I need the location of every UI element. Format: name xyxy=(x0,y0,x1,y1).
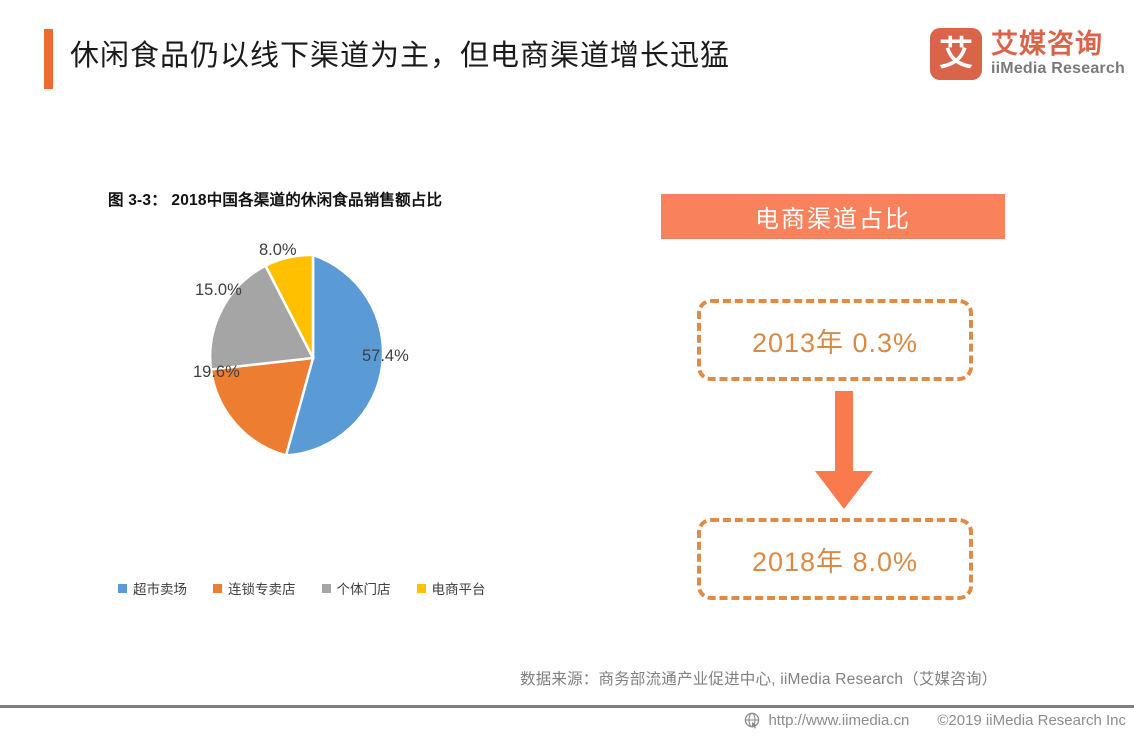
page-header: 休闲食品仍以线下渠道为主，但电商渠道增长迅猛 艾 艾媒咨询 iiMedia Re… xyxy=(0,0,1134,110)
legend-item-2[interactable]: 个体门店 xyxy=(322,578,391,598)
logo-text: 艾媒咨询 iiMedia Research xyxy=(991,29,1125,79)
pie-value-label-3: 8.0% xyxy=(259,241,297,260)
legend-swatch-icon-3 xyxy=(417,584,426,593)
pie-value-label-1: 19.6% xyxy=(193,363,240,382)
logo-mark-icon: 艾 xyxy=(930,28,982,80)
pie-chart: 57.4% 19.6% 15.0% 8.0% xyxy=(210,255,416,461)
panel-banner: 电商渠道占比 xyxy=(661,194,1005,239)
data-source-note: 数据来源：商务部流通产业促进中心, iiMedia Research（艾媒咨询） xyxy=(520,667,997,689)
page-footer: http://www.iimedia.cn ©2019 iiMedia Rese… xyxy=(744,712,1126,729)
footer-copyright: ©2019 iiMedia Research Inc xyxy=(937,712,1126,729)
pie-chart-panel: 图 3-3： 2018中国各渠道的休闲食品销售额占比 57.4% 19.6% 1… xyxy=(0,170,600,620)
stat-box-2013: 2013年 0.3% xyxy=(697,299,973,381)
legend-item-3[interactable]: 电商平台 xyxy=(417,578,486,598)
globe-icon-svg xyxy=(744,712,761,729)
pie-value-label-2: 15.0% xyxy=(195,281,242,300)
legend-swatch-icon-2 xyxy=(322,584,331,593)
stat-box-2018: 2018年 8.0% xyxy=(697,518,973,600)
panel-banner-label: 电商渠道占比 xyxy=(755,199,911,234)
legend-label-2: 个体门店 xyxy=(337,578,391,598)
stat-box-2018-label: 2018年 8.0% xyxy=(752,540,918,579)
legend-swatch-icon-0 xyxy=(118,584,127,593)
legend-label-0: 超市卖场 xyxy=(133,578,187,598)
legend-item-0[interactable]: 超市卖场 xyxy=(118,578,187,598)
stat-box-2013-label: 2013年 0.3% xyxy=(752,321,918,360)
logo-name-cn: 艾媒咨询 xyxy=(991,29,1125,59)
globe-icon xyxy=(744,712,761,729)
footer-url[interactable]: http://www.iimedia.cn xyxy=(768,712,909,729)
logo-name-en: iiMedia Research xyxy=(991,59,1125,79)
legend-label-3: 电商平台 xyxy=(432,578,486,598)
down-arrow-svg xyxy=(813,391,875,511)
chart-title: 图 3-3： 2018中国各渠道的休闲食品销售额占比 xyxy=(108,188,442,210)
page-title: 休闲食品仍以线下渠道为主，但电商渠道增长迅猛 xyxy=(70,33,730,79)
brand-logo: 艾 艾媒咨询 iiMedia Research xyxy=(930,28,1125,80)
legend-item-1[interactable]: 连锁专卖店 xyxy=(213,578,296,598)
footer-divider xyxy=(0,705,1134,708)
legend-label-1: 连锁专卖店 xyxy=(228,578,296,598)
down-arrow-icon xyxy=(813,391,875,511)
title-accent-bar xyxy=(44,29,53,89)
pie-value-label-0: 57.4% xyxy=(362,347,409,366)
chart-legend: 超市卖场 连锁专卖店 个体门店 电商平台 xyxy=(118,578,486,598)
legend-swatch-icon-1 xyxy=(213,584,222,593)
